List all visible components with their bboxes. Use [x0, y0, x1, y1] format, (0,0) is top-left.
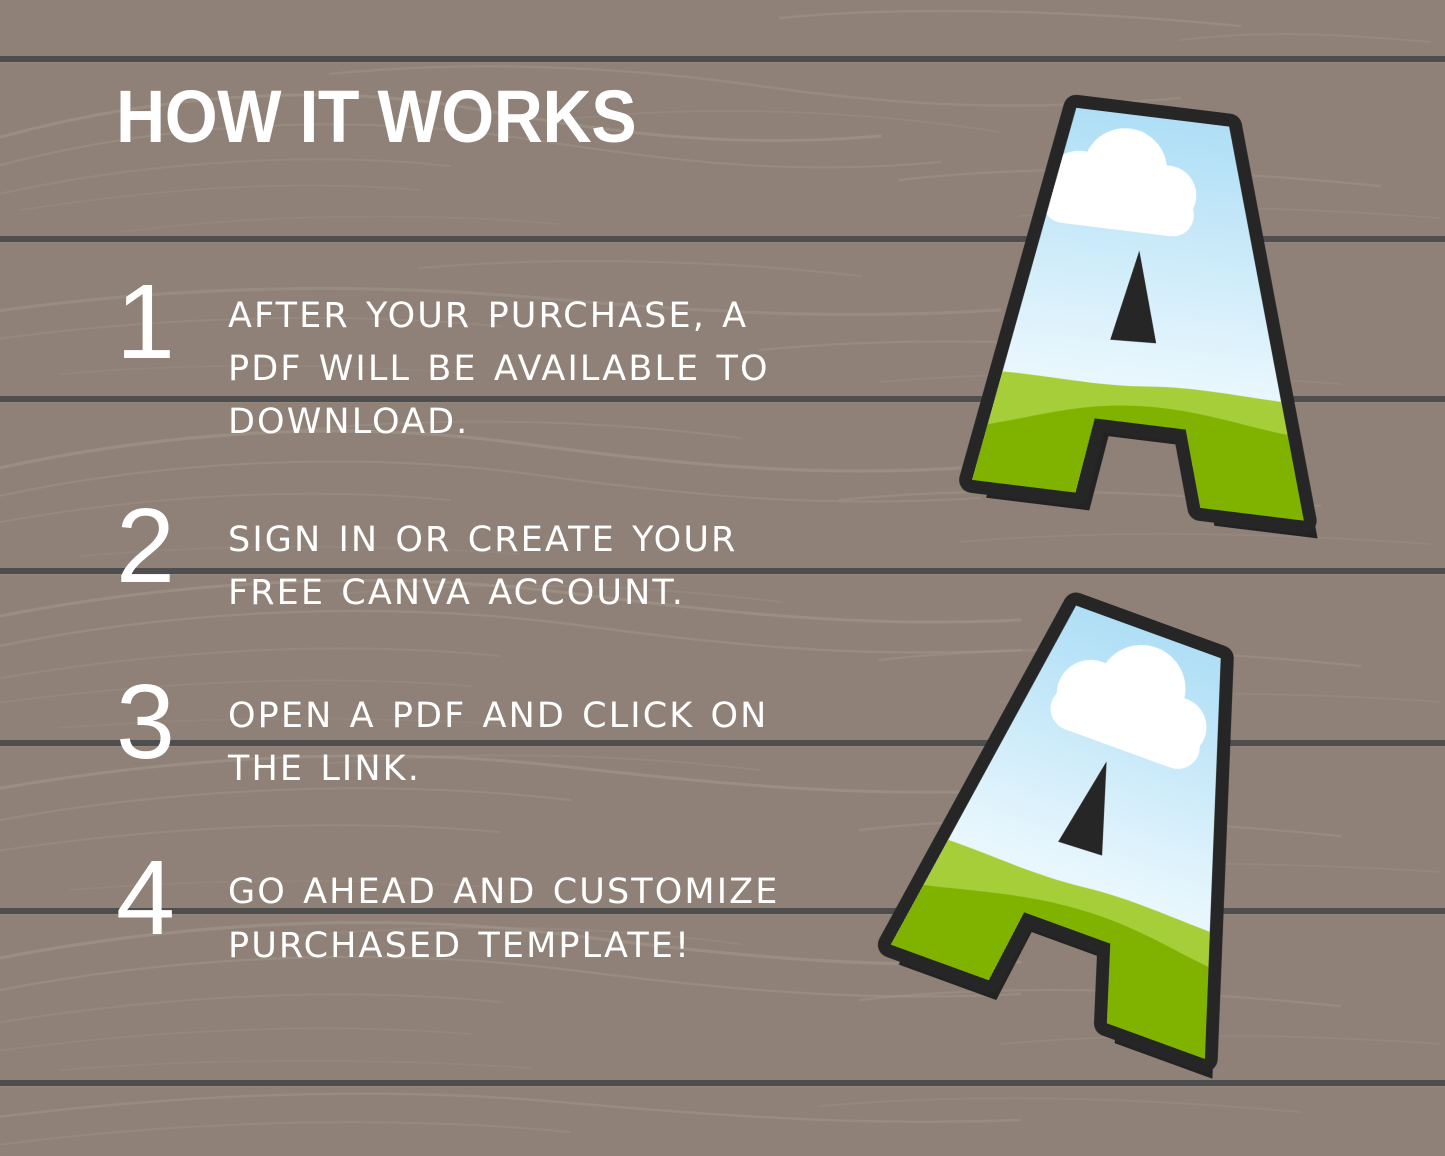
list-item: 4 Go ahead and customize purchased templ…	[110, 852, 830, 972]
list-item: 2 Sign in or create your free Canva acco…	[110, 500, 830, 620]
step-text: After your purchase, a PDF will be avail…	[228, 276, 830, 450]
step-text: Sign in or create your free Canva accoun…	[228, 500, 830, 620]
poster-canvas: HOW IT WORKS 1 After your purchase, a PD…	[0, 0, 1445, 1156]
steps-list: 1 After your purchase, a PDF will be ava…	[110, 276, 830, 973]
step-text: Open a PDF and click on the link.	[228, 676, 830, 796]
step-text: Go ahead and customize purchased templat…	[228, 852, 830, 972]
plank-separator	[0, 1080, 1445, 1086]
letter-a-upper	[929, 72, 1381, 567]
page-title: HOW IT WORKS	[116, 80, 636, 154]
plank-separator	[0, 56, 1445, 62]
step-number: 2	[110, 500, 228, 593]
step-number: 3	[110, 676, 228, 769]
list-item: 3 Open a PDF and click on the link.	[110, 676, 830, 796]
step-number: 1	[110, 276, 228, 369]
step-number: 4	[110, 852, 228, 945]
list-item: 1 After your purchase, a PDF will be ava…	[110, 276, 830, 450]
